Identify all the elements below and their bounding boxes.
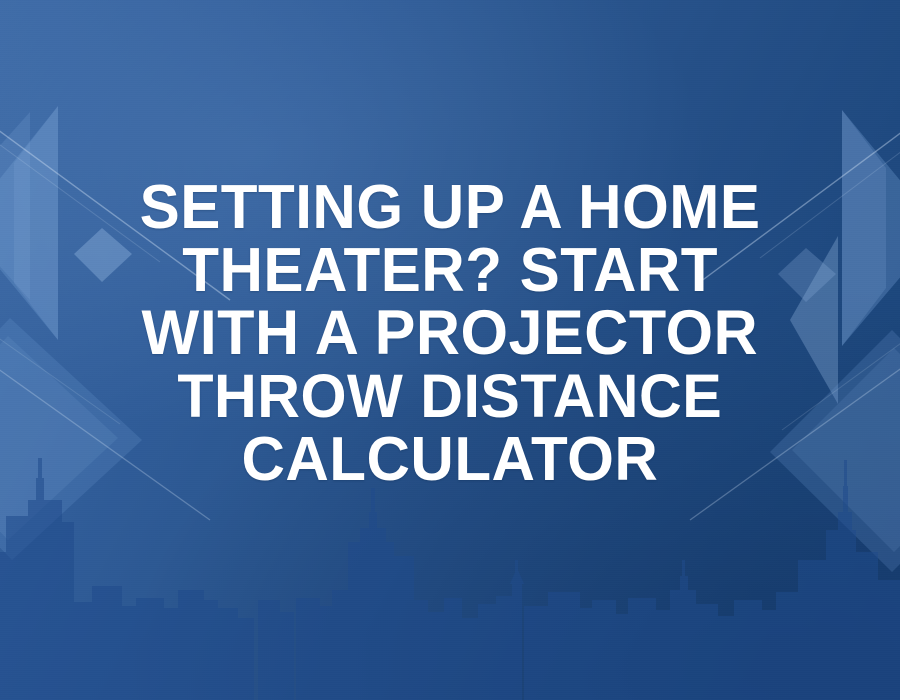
headline-line-3: WITH A PROJECTOR xyxy=(142,302,759,365)
headline-line-5: CALCULATOR xyxy=(242,428,659,491)
headline-block: SETTING UP A HOME THEATER? START WITH A … xyxy=(0,0,900,700)
headline-line-1: SETTING UP A HOME xyxy=(140,176,761,239)
title-card-poster: SETTING UP A HOME THEATER? START WITH A … xyxy=(0,0,900,700)
headline-line-2: THEATER? START xyxy=(182,239,718,302)
headline-line-4: THROW DISTANCE xyxy=(178,365,723,428)
